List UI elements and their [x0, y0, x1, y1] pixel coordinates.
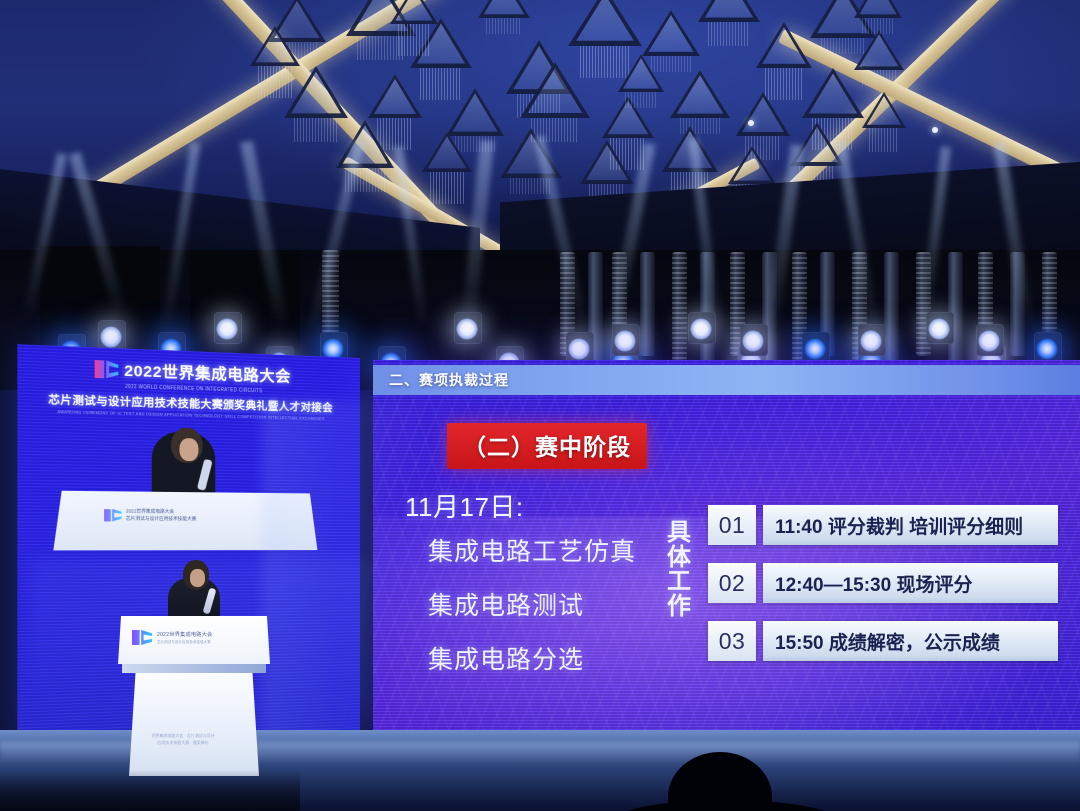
triangle-chandelier: [250, 0, 890, 200]
chandelier-fringe: [862, 70, 896, 86]
speaker-face: [190, 569, 205, 587]
chandelier-fringe: [708, 22, 750, 46]
stage-black-panel: [190, 250, 300, 355]
chandelier-fringe: [765, 68, 803, 100]
row-text: 12:40—15:30 现场评分: [763, 563, 1058, 603]
chandelier-triangle: [368, 74, 422, 118]
truss-pipe: [948, 252, 963, 368]
slide-header-title: 二、赛项执裁过程: [389, 370, 509, 390]
chandelier-triangle: [670, 70, 730, 118]
chandelier-fringe: [345, 168, 384, 192]
ic-logo-icon: [104, 509, 121, 522]
chandelier-fringe: [377, 118, 414, 150]
chandelier-fringe: [862, 18, 895, 34]
chandelier-fringe: [651, 56, 690, 72]
slide-header-bar: 二、赛项执裁过程: [373, 365, 1080, 395]
side-screen-titleblock: 2022世界集成电路大会 2022 WORLD CONFERENCE ON IN…: [17, 355, 360, 422]
stage-light-lamp: [216, 318, 238, 340]
list-item: 集成电路分选: [428, 640, 636, 676]
slide-date-label: 11月17日:: [405, 487, 524, 524]
row-text: 11:40 评分裁判 培训评分细则: [763, 505, 1058, 545]
slide-vertical-label: 具体工作: [664, 521, 694, 620]
chandelier-fringe: [510, 178, 552, 194]
slide-bullet-list: 集成电路工艺仿真 集成电路测试 集成电路分选: [428, 532, 636, 694]
chandelier-fringe: [455, 136, 494, 152]
podium-footer-line1: 世界集成电路大会 · 芯片测试与设计: [150, 732, 216, 739]
stage-light-lamp: [690, 318, 712, 340]
stage-light-lamp: [614, 330, 636, 352]
stage-light-lamp: [978, 330, 1000, 352]
chandelier-fringe: [294, 118, 338, 142]
podium-footer: 世界集成电路大会 · 芯片测试与设计 应用技术技能大赛 · 颁奖典礼: [150, 732, 216, 746]
foreground-shadow: [0, 770, 300, 811]
row-number: 03: [708, 621, 756, 661]
row-number: 01: [708, 505, 756, 545]
row-text: 15:50 成绩解密，公示成绩: [763, 621, 1058, 661]
chandelier-triangle: [568, 0, 642, 46]
feed-podium-text: 2022世界集成电路大会 芯片测试与设计应用技术技能大赛: [126, 508, 196, 522]
podium-logo: 2022世界集成电路大会 芯片测试与设计应用技术技能大赛: [132, 630, 212, 645]
podium-subtitle: 芯片测试与设计应用技术技能大赛: [157, 639, 212, 644]
vertical-label-char: 体: [664, 546, 694, 571]
stage-light-lamp: [804, 338, 826, 360]
vertical-label-char: 具: [664, 521, 694, 546]
stage-light-lamp: [1036, 338, 1058, 360]
table-row: 02 12:40—15:30 现场评分: [708, 563, 1058, 603]
chandelier-triangle: [802, 68, 864, 118]
chandelier-fringe: [869, 128, 899, 152]
slide-section-banner-text: （二）赛中阶段: [463, 434, 631, 460]
row-number: 02: [708, 563, 756, 603]
stage-light-lamp: [928, 318, 950, 340]
truss-pipe: [672, 252, 687, 368]
chandelier-fringe: [625, 92, 656, 108]
podium: 2022世界集成电路大会 芯片测试与设计应用技术技能大赛 世界集成电路大会 · …: [118, 616, 270, 776]
stage-light-lamp: [456, 318, 478, 340]
podium-title: 2022世界集成电路大会: [157, 631, 212, 638]
ceiling-downlight: [748, 120, 754, 126]
chandelier-fringe: [680, 118, 721, 134]
table-row: 01 11:40 评分裁判 培训评分细则: [708, 505, 1058, 545]
slide-schedule-list: 01 11:40 评分裁判 培训评分细则 02 12:40—15:30 现场评分…: [708, 505, 1058, 679]
chandelier-fringe: [398, 24, 431, 56]
chandelier-fringe: [420, 68, 462, 100]
stage-light-lamp: [568, 338, 590, 360]
slide-section-banner: （二）赛中阶段: [447, 423, 647, 469]
ic-logo-icon: [95, 360, 119, 379]
list-item: 集成电路工艺仿真: [428, 532, 636, 568]
chandelier-triangle: [642, 10, 700, 56]
vertical-label-char: 作: [664, 595, 694, 620]
chandelier-fringe: [531, 118, 579, 142]
chandelier-triangle: [756, 22, 812, 68]
stage-light-lamp: [860, 330, 882, 352]
podium-band: [122, 664, 266, 673]
chandelier-fringe: [258, 66, 292, 98]
feed-podium-subtitle: 芯片测试与设计应用技术技能大赛: [126, 515, 196, 521]
feed-podium-logo: 2022世界集成电路大会 芯片测试与设计应用技术技能大赛: [104, 508, 196, 522]
stage-light-lamp: [742, 330, 764, 352]
table-row: 03 15:50 成绩解密，公示成绩: [708, 621, 1058, 661]
podium-body: [129, 673, 259, 776]
ceiling-downlight: [932, 127, 938, 133]
chandelier-fringe: [430, 172, 464, 204]
truss-pipe: [640, 252, 655, 356]
side-screen-live-feed: 2022世界集成电路大会 芯片测试与设计应用技术技能大赛: [42, 429, 327, 568]
ic-logo-icon: [132, 630, 152, 645]
chandelier-fringe: [486, 18, 521, 34]
truss-pipe: [1010, 252, 1025, 356]
conference-stage-photo: 2022世界集成电路大会 2022 WORLD CONFERENCE ON IN…: [0, 0, 1080, 811]
podium-footer-line2: 应用技术技能大赛 · 颁奖典礼: [150, 739, 216, 746]
stage-light-lamp: [100, 326, 122, 348]
feed-podium-title: 2022世界集成电路大会: [126, 508, 174, 514]
list-item: 集成电路测试: [428, 586, 636, 622]
chandelier-fringe: [821, 38, 866, 54]
podium-text: 2022世界集成电路大会 芯片测试与设计应用技术技能大赛: [157, 631, 212, 645]
vertical-label-char: 工: [664, 570, 694, 595]
chandelier-triangle: [284, 66, 348, 118]
chandelier-fringe: [580, 46, 630, 78]
speaker-face: [179, 438, 198, 461]
